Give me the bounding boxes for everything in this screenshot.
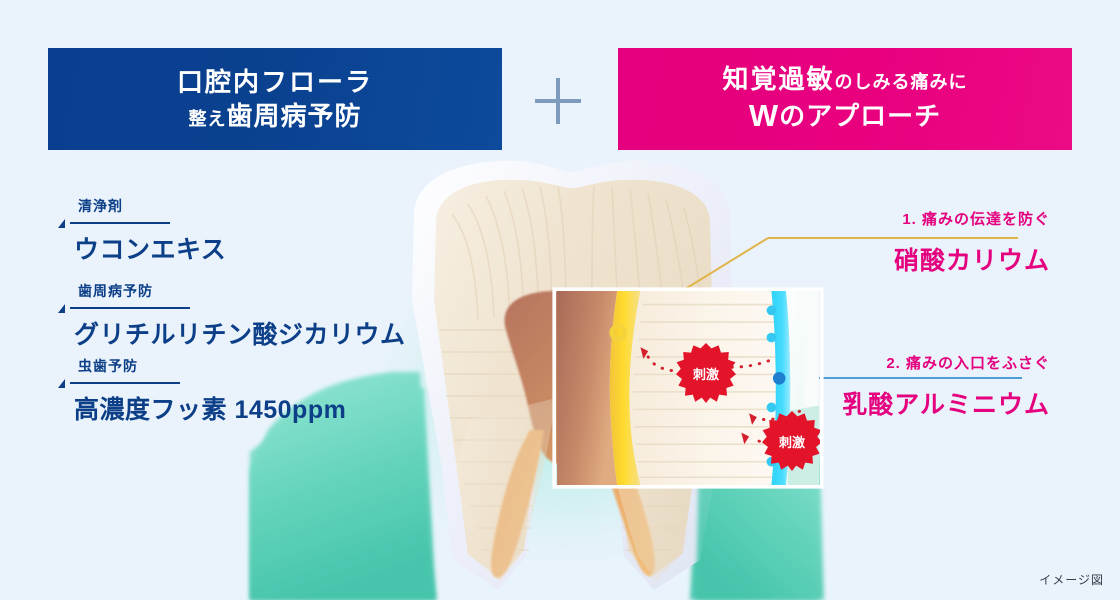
flag-marker-icon	[58, 379, 65, 388]
banner-left-line2-main: 歯周病予防	[226, 101, 361, 131]
ingredient-item-periodontal: 歯周病予防 グリチルリチン酸ジカリウム	[56, 281, 406, 351]
banner-hypersensitivity: 知覚過敏のしみる痛みに Wのアプローチ	[618, 48, 1072, 150]
approach-name: 硝酸カリウム	[760, 241, 1050, 277]
ingredient-rule	[56, 217, 226, 229]
ingredient-name: 高濃度フッ素 1450ppm	[74, 390, 346, 426]
ingredient-category: 清浄剤	[78, 196, 226, 216]
banner-right-line1-main: 知覚過敏	[722, 64, 834, 94]
banner-left-line2: 整え歯周病予防	[188, 100, 361, 132]
ingredient-category: 虫歯予防	[78, 356, 346, 376]
banner-right-line2: Wのアプローチ	[749, 97, 941, 135]
approach-category: 1. 痛みの伝達を防ぐ	[760, 208, 1050, 229]
ingredient-category: 歯周病予防	[78, 281, 406, 301]
banner-right-w: W	[749, 98, 779, 133]
plus-icon	[535, 78, 581, 124]
banner-oral-flora: 口腔内フローラ 整え歯周病予防	[48, 48, 502, 150]
ingredient-rule	[56, 377, 346, 389]
flag-marker-icon	[58, 219, 65, 228]
approach-category: 2. 痛みの入口をふさぐ	[760, 352, 1050, 373]
ingredient-item-cleanser: 清浄剤 ウコンエキス	[56, 196, 226, 266]
ingredient-rule	[56, 302, 406, 314]
banner-right-line1: 知覚過敏のしみる痛みに	[722, 63, 967, 95]
banner-left-line1: 口腔内フローラ	[177, 66, 373, 98]
approach-item-aluminium-lactate: 2. 痛みの入口をふさぐ 乳酸アルミニウム	[760, 352, 1050, 421]
banner-right-line1-small: のしみる痛みに	[835, 72, 968, 92]
ingredient-name: グリチルリチン酸ジカリウム	[74, 315, 406, 351]
flag-marker-icon	[58, 304, 65, 313]
banner-right-line2-rest: のアプローチ	[779, 101, 941, 131]
infographic-root: 刺激 刺激 口腔内フローラ 整え歯周病予防 知覚過敏のしみる痛みに Wのアプロー…	[0, 0, 1120, 600]
approach-item-potassium-nitrate: 1. 痛みの伝達を防ぐ 硝酸カリウム	[760, 208, 1050, 277]
image-caption: イメージ図	[1039, 571, 1104, 588]
stimulus-badge: 刺激	[676, 343, 736, 403]
banner-left-line2-small: 整え	[188, 109, 226, 129]
ingredient-item-cavity: 虫歯予防 高濃度フッ素 1450ppm	[56, 356, 346, 426]
ingredient-name: ウコンエキス	[74, 230, 226, 266]
approach-name: 乳酸アルミニウム	[760, 385, 1050, 421]
